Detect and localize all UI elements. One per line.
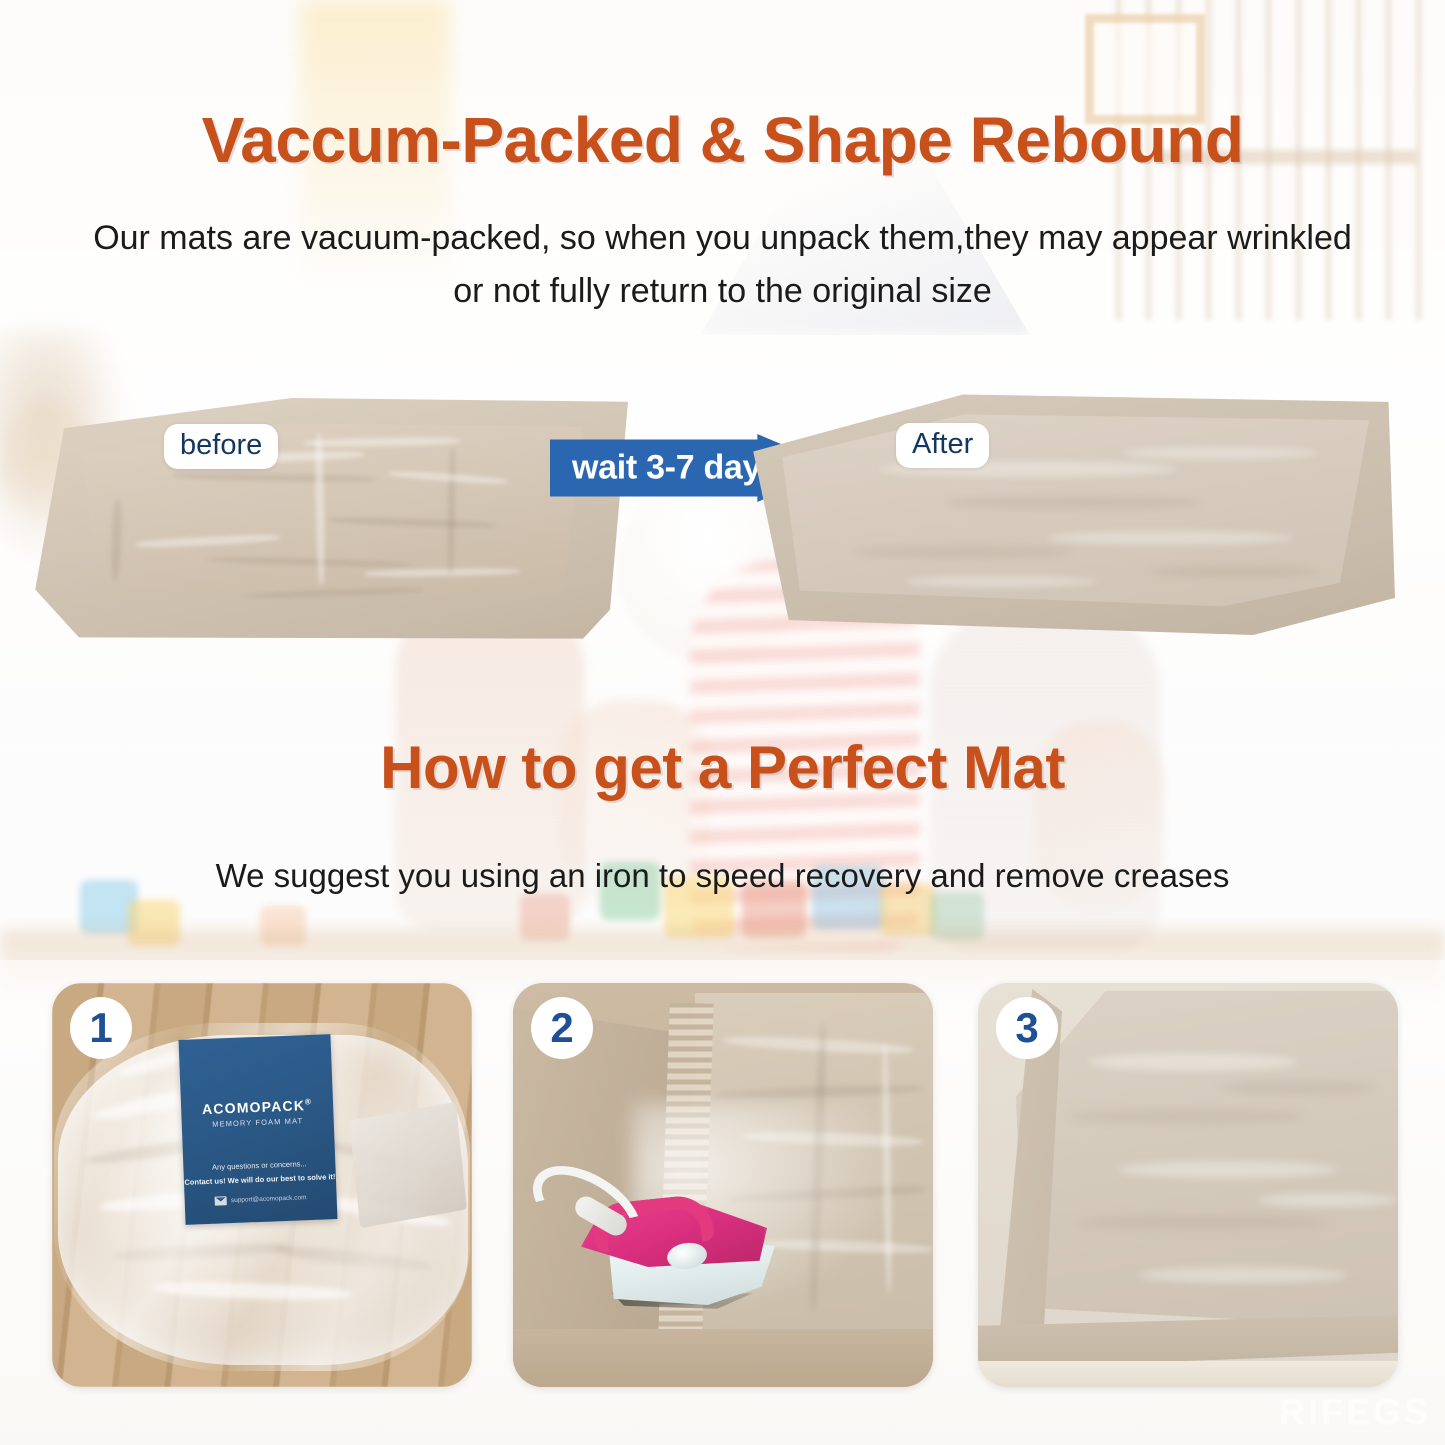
mat-after-body <box>750 392 1395 640</box>
infographic-page: Vaccum-Packed & Shape Rebound Our mats a… <box>0 0 1445 1445</box>
arrow-label: wait 3-7 days <box>572 449 780 488</box>
mat-bottom-edge <box>513 1329 933 1387</box>
page-title-rebound: Vaccum-Packed & Shape Rebound <box>0 108 1445 172</box>
step-number-badge-2: 2 <box>531 997 593 1059</box>
watermark: RIFEGS <box>1279 1391 1431 1433</box>
subtitle-rebound: Our mats are vacuum-packed, so when you … <box>0 212 1445 317</box>
label-email-row: support@acomopack.com <box>185 1192 337 1207</box>
page-title-perfect-mat: How to get a Perfect Mat <box>0 738 1445 798</box>
clothes-iron <box>559 1181 779 1321</box>
subtitle-perfect-mat: We suggest you using an iron to speed re… <box>0 850 1445 901</box>
step-panel-2: 2 <box>513 983 933 1387</box>
step-number-badge-3: 3 <box>996 997 1058 1059</box>
product-name: MEMORY FOAM MAT <box>212 1116 303 1128</box>
mat-before-image: before <box>28 398 628 650</box>
label-question-line: Any questions or concerns... <box>183 1158 335 1173</box>
brand-name: ACOMOPACK® <box>202 1097 313 1117</box>
label-contact-line: Contact us! We will do our best to solve… <box>184 1172 336 1187</box>
step-number-badge-1: 1 <box>70 997 132 1059</box>
product-label: ACOMOPACK® MEMORY FOAM MAT Any questions… <box>179 1034 338 1225</box>
carton-box <box>349 1102 467 1228</box>
mail-icon <box>215 1196 227 1205</box>
step-panel-3: 3 <box>978 983 1398 1387</box>
mat-before-body <box>28 398 628 650</box>
badge-after: After <box>896 423 989 468</box>
label-email: support@acomopack.com <box>231 1194 307 1204</box>
step-panel-1: ACOMOPACK® MEMORY FOAM MAT Any questions… <box>52 983 472 1387</box>
mat-after-image: After <box>750 392 1395 640</box>
panel-floor <box>978 1361 1398 1387</box>
badge-before: before <box>164 424 278 469</box>
